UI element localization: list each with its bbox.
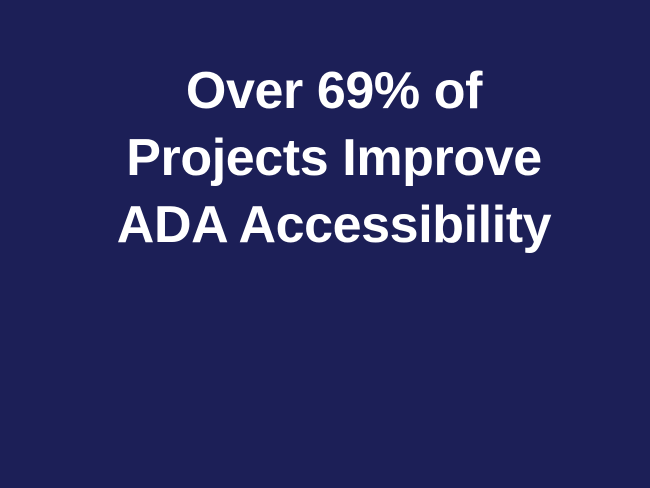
title-line-2: Projects Improve [18,125,650,192]
slide-title: Over 69% of Projects Improve ADA Accessi… [0,58,650,259]
slide-body-area [0,270,650,488]
title-line-1: Over 69% of [18,58,650,125]
title-line-3: ADA Accessibility [18,192,650,259]
presentation-slide: Over 69% of Projects Improve ADA Accessi… [0,0,650,488]
